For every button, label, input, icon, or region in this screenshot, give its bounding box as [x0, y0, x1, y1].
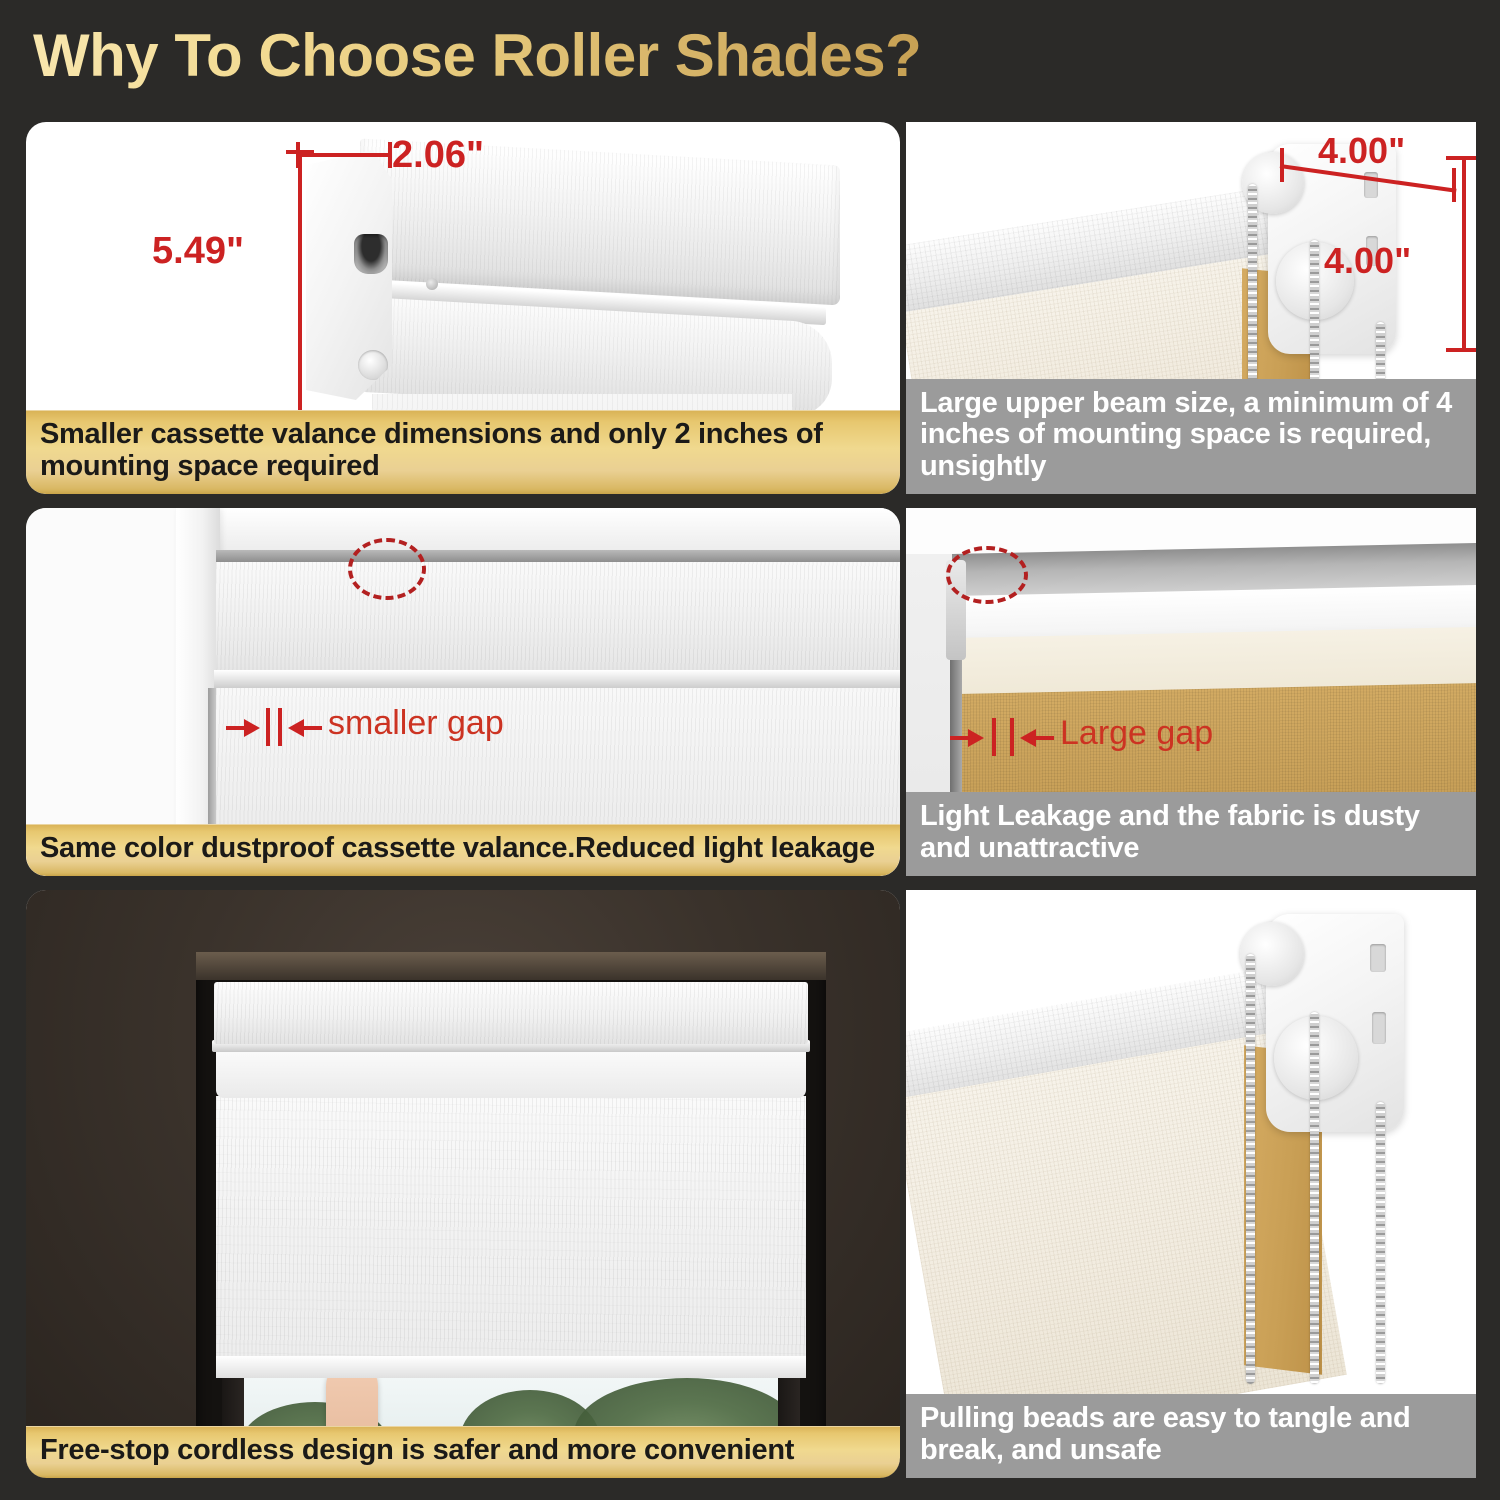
bead-chain-left [1246, 954, 1255, 1384]
endcap-screw-secondary [426, 278, 438, 290]
gap-callout-label: Large gap [1060, 714, 1213, 753]
endcap-slot [354, 234, 388, 274]
window-frame-top [176, 508, 900, 550]
valance-endcap [306, 150, 392, 400]
gap-arrow-stem-right [304, 726, 322, 730]
shade-headrail [216, 550, 900, 562]
window-reveal-top [196, 952, 826, 980]
height-dimension-label: 4.00" [1324, 240, 1411, 282]
height-dimension-tick-top [1446, 156, 1476, 160]
panel-caption: Light Leakage and the fabric is dusty an… [906, 792, 1476, 876]
height-dimension-label: 5.49" [152, 230, 244, 273]
panel-cordless-design: Free-stop cordless design is safer and m… [26, 890, 900, 1478]
height-dimension-tick-bottom [1446, 348, 1476, 352]
shade-roll [216, 1050, 806, 1098]
panel-caption: Free-stop cordless design is safer and m… [26, 1426, 900, 1478]
height-dimension-tick-top [286, 150, 314, 154]
roller-shade-fabric [216, 1096, 806, 1362]
panel-image: smaller gap [26, 508, 900, 876]
shade-upper-panel [216, 562, 900, 670]
panel-caption: Same color dustproof cassette valance.Re… [26, 824, 900, 876]
width-dimension-tick-right [1452, 168, 1456, 202]
gap-tick-left [266, 708, 270, 746]
panel-caption: Large upper beam size, a minimum of 4 in… [906, 379, 1476, 494]
width-dimension-tick-left [1280, 148, 1284, 182]
panel-caption: Smaller cassette valance dimensions and … [26, 410, 900, 494]
gap-arrow-right-icon [968, 729, 984, 747]
shade-bottom-bar [216, 1356, 806, 1378]
panel-cassette-dimensions: 2.06" 5.49" Smaller cassette valance dim… [26, 122, 900, 494]
panel-light-leakage: Large gap Light Leakage and the fabric i… [906, 508, 1476, 876]
gap-tick-right [278, 708, 282, 746]
panel-caption: Pulling beads are easy to tangle and bre… [906, 1394, 1476, 1478]
panel-pulling-beads: Pulling beads are easy to tangle and bre… [906, 890, 1476, 1478]
gap-arrow-stem-right [1036, 736, 1054, 740]
width-dimension-label: 2.06" [392, 134, 484, 177]
bead-chain-right [1376, 1102, 1385, 1384]
panel-smaller-gap: smaller gap Same color dustproof cassett… [26, 508, 900, 876]
shade-mid-bar [214, 670, 900, 688]
shade-lower-panel [216, 688, 900, 838]
panel-image [26, 890, 900, 1478]
gap-arrow-stem-left [226, 726, 246, 730]
panel-grid: 2.06" 5.49" Smaller cassette valance dim… [0, 0, 1500, 1500]
gap-arrow-right-icon [244, 719, 260, 737]
panel-image [906, 890, 1476, 1478]
gap-arrow-left-icon [288, 719, 304, 737]
gap-arrow-left-icon [1020, 729, 1036, 747]
gap-tick-right [1010, 718, 1014, 756]
gap-arrow-stem-left [950, 736, 970, 740]
gap-highlight-circle-icon [946, 546, 1028, 604]
bracket-notch-middle [1372, 1012, 1386, 1044]
bracket-notch-top [1370, 944, 1386, 972]
bead-chain-middle [1310, 1012, 1319, 1384]
gap-highlight-circle-icon [348, 538, 426, 600]
gap-callout-label: smaller gap [328, 704, 504, 743]
cassette-valance-illustration [276, 144, 836, 409]
panel-large-beam-dimensions: 4.00" 4.00" Large upper beam size, a min… [906, 122, 1476, 494]
height-dimension-line [1462, 156, 1466, 352]
cassette-valance [214, 982, 808, 1044]
width-dimension-label: 4.00" [1318, 130, 1405, 172]
gap-tick-left [992, 718, 996, 756]
